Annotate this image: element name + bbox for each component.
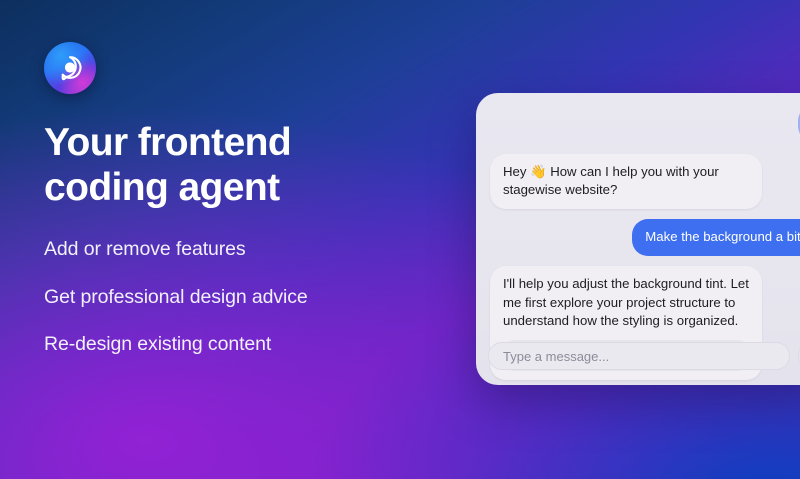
chat-composer: Type a message... [476,337,800,385]
feature-item-1: Add or remove features [44,240,444,260]
page-title: Your frontend coding agent [44,120,444,210]
chat-message-user-1: Hey the [490,105,800,142]
chat-bubble-text: I'll help you adjust the background tint… [503,275,749,331]
feature-list: Add or remove features Get professional … [44,240,444,355]
chat-bubble-text: Hey 👋 How can I help you with your stage… [490,154,762,209]
message-input[interactable]: Type a message... [488,342,790,370]
feature-item-3: Re-design existing content [44,335,444,355]
stagewise-pin-logo-icon [44,42,96,94]
chat-message-user-2: Make the background a bit more tinte [490,219,800,256]
promo-canvas: Your frontend coding agent Add or remove… [0,0,800,479]
chat-message-assistant-1: Hey 👋 How can I help you with your stage… [490,154,800,209]
chat-bubble-text: Make the background a bit more tinte [632,219,800,256]
chat-panel: Hey the Hey 👋 How can I help you with yo… [476,93,800,385]
feature-item-2: Get professional design advice [44,288,444,308]
hero-content: Your frontend coding agent Add or remove… [44,42,444,355]
chat-message-list[interactable]: Hey the Hey 👋 How can I help you with yo… [476,93,800,337]
